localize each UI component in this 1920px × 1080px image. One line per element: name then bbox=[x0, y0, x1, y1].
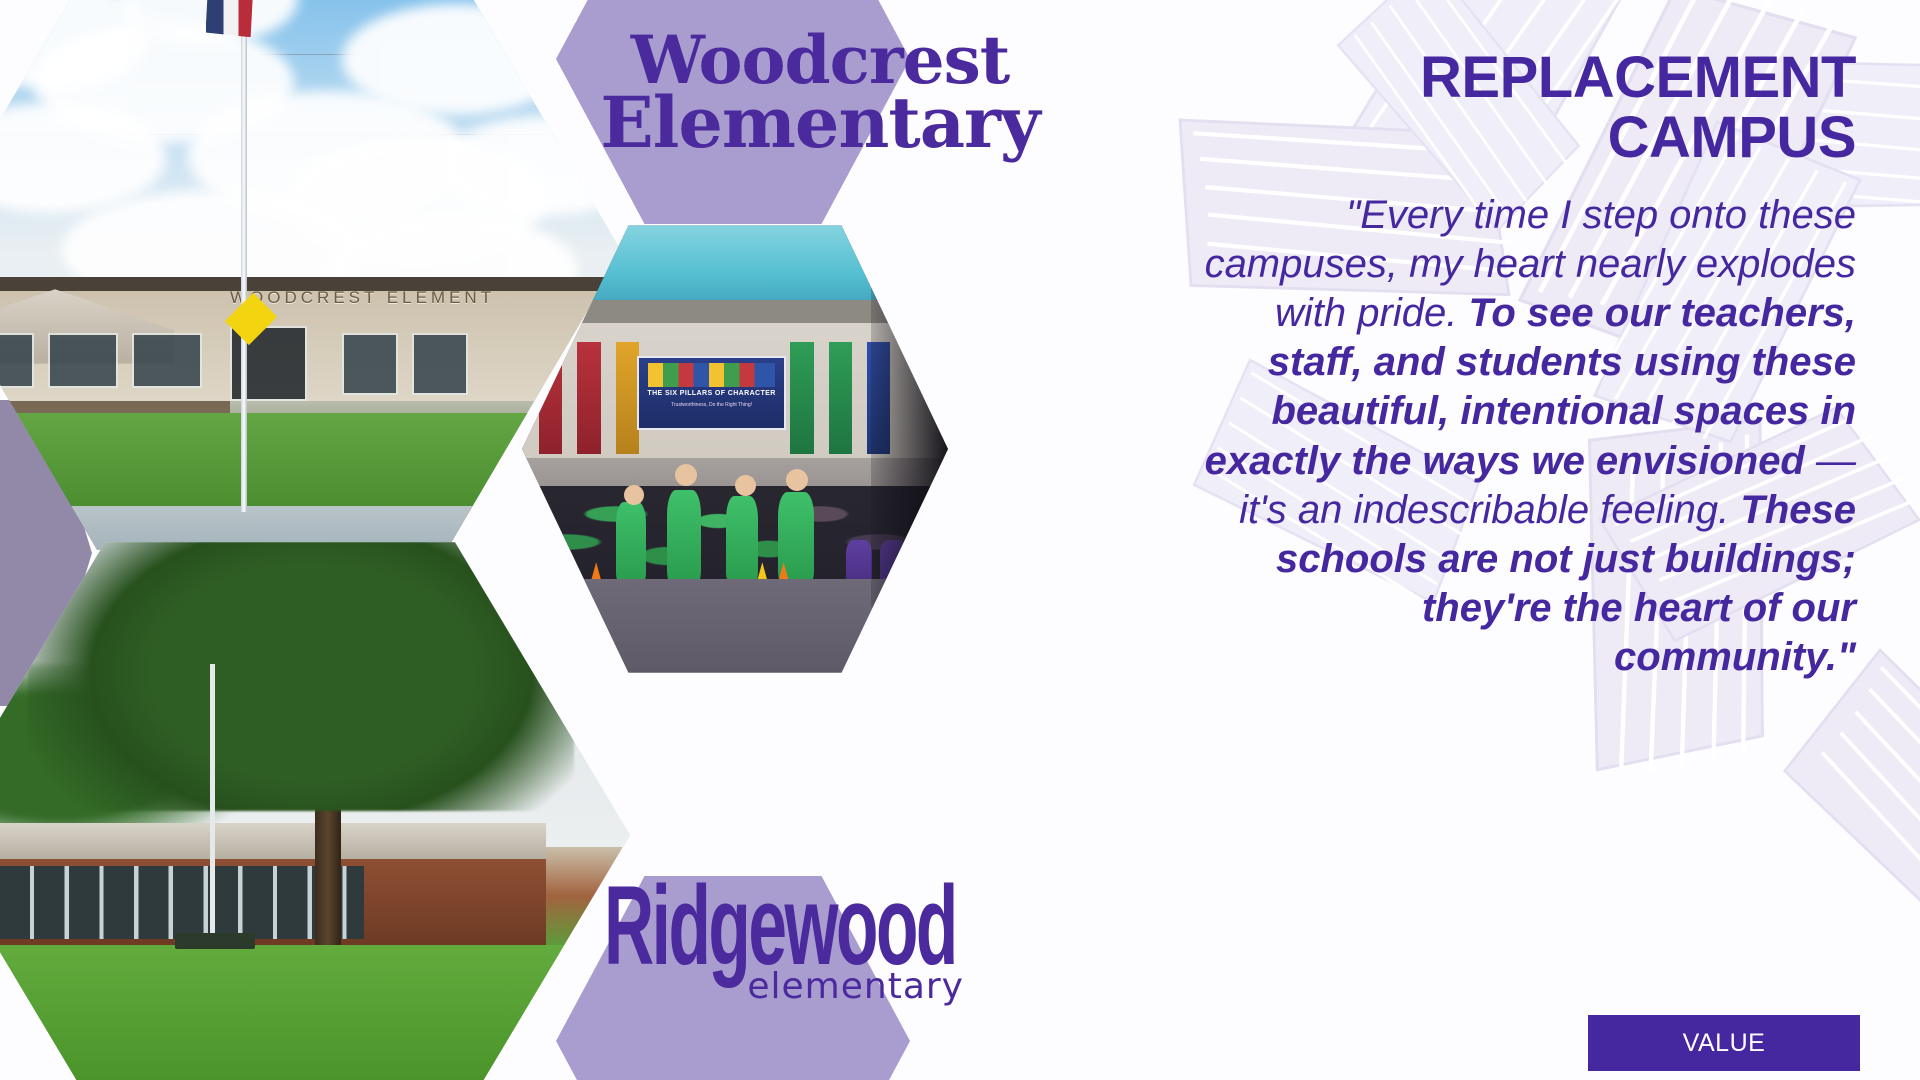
heading-line-2: CAMPUS bbox=[1180, 108, 1856, 168]
slide-canvas: WOODCREST ELEMENT THE SIX PILLARS OF bbox=[0, 0, 1920, 1080]
photo-woodcrest-campus-building: WOODCREST ELEMENT bbox=[0, 0, 622, 562]
heading-line-1: REPLACEMENT bbox=[1180, 48, 1856, 108]
building-signage-text: WOODCREST ELEMENT bbox=[230, 288, 495, 308]
ridgewood-logo-hexagon bbox=[556, 876, 910, 1080]
value-badge-label: VALUE bbox=[1683, 1029, 1766, 1058]
page-title: REPLACEMENT CAMPUS bbox=[1180, 48, 1856, 169]
texas-flag-icon bbox=[206, 0, 254, 37]
banner-subtitle: Trustworthiness, Do the Right Thing! bbox=[639, 402, 784, 408]
woodcrest-logo-hexagon bbox=[556, 0, 910, 224]
photo-ridgewood-campus-building bbox=[0, 530, 630, 1080]
banner-title: THE SIX PILLARS OF CHARACTER bbox=[639, 390, 784, 397]
content-panel: REPLACEMENT CAMPUS "Every time I step on… bbox=[1180, 0, 1920, 1080]
bench-shape bbox=[175, 933, 255, 949]
testimonial-quote: "Every time I step onto these campuses, … bbox=[1180, 191, 1856, 683]
six-pillars-banner: THE SIX PILLARS OF CHARACTER Trustworthi… bbox=[637, 356, 786, 431]
value-badge: VALUE bbox=[1588, 1015, 1860, 1071]
